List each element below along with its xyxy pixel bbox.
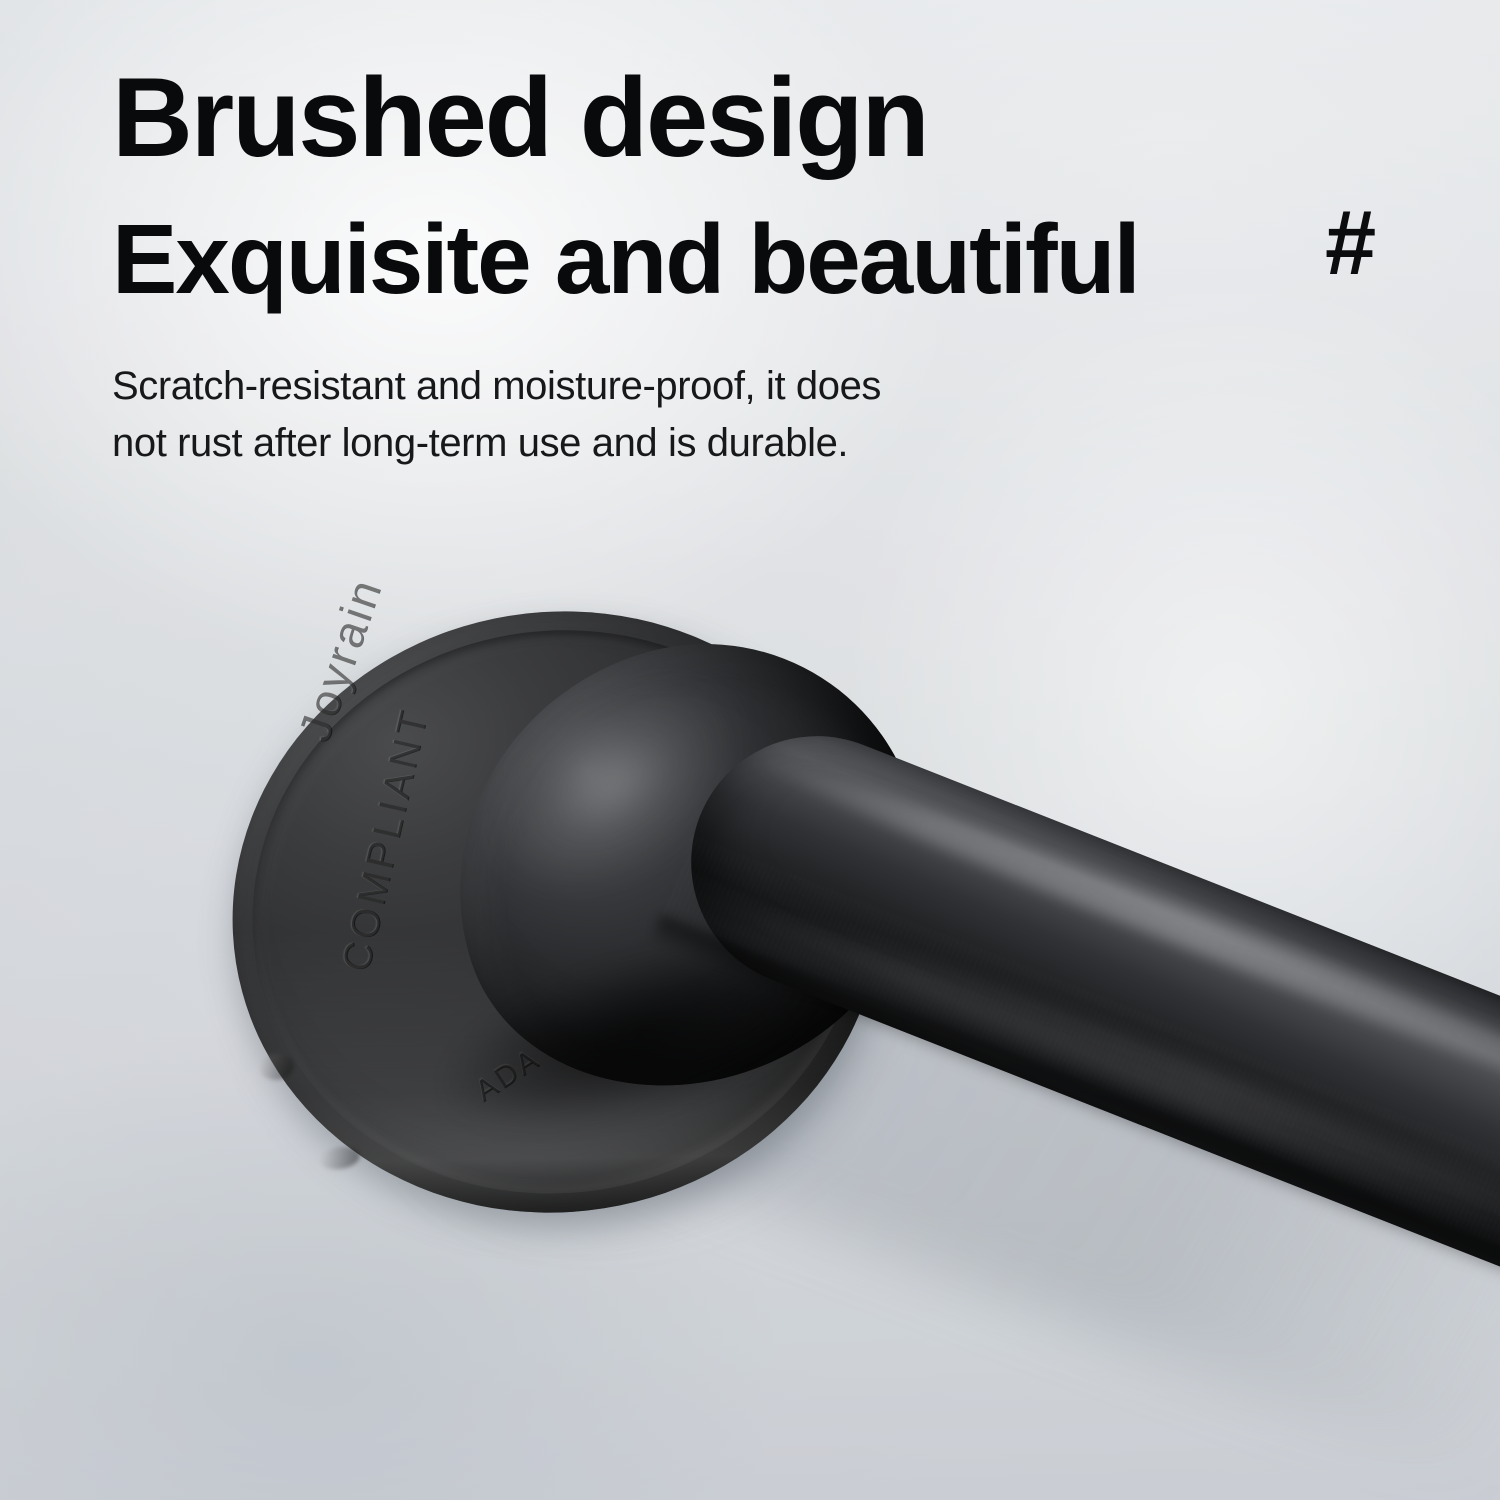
- product-feature-image: Joyrain COMPLIANT ADA Brushed design Exq…: [0, 0, 1500, 1500]
- subheadline: Exquisite and beautiful: [112, 210, 1232, 308]
- background-shade-bottom-left: [0, 1020, 780, 1500]
- body-copy: Scratch-resistant and moisture-proof, it…: [112, 358, 1232, 472]
- marketing-copy-block: Brushed design Exquisite and beautiful S…: [112, 62, 1232, 472]
- body-copy-line-2: not rust after long-term use and is dura…: [112, 415, 1232, 472]
- body-copy-line-1: Scratch-resistant and moisture-proof, it…: [112, 358, 1232, 415]
- headline: Brushed design: [112, 62, 1232, 174]
- hash-mark-icon: #: [1325, 197, 1374, 289]
